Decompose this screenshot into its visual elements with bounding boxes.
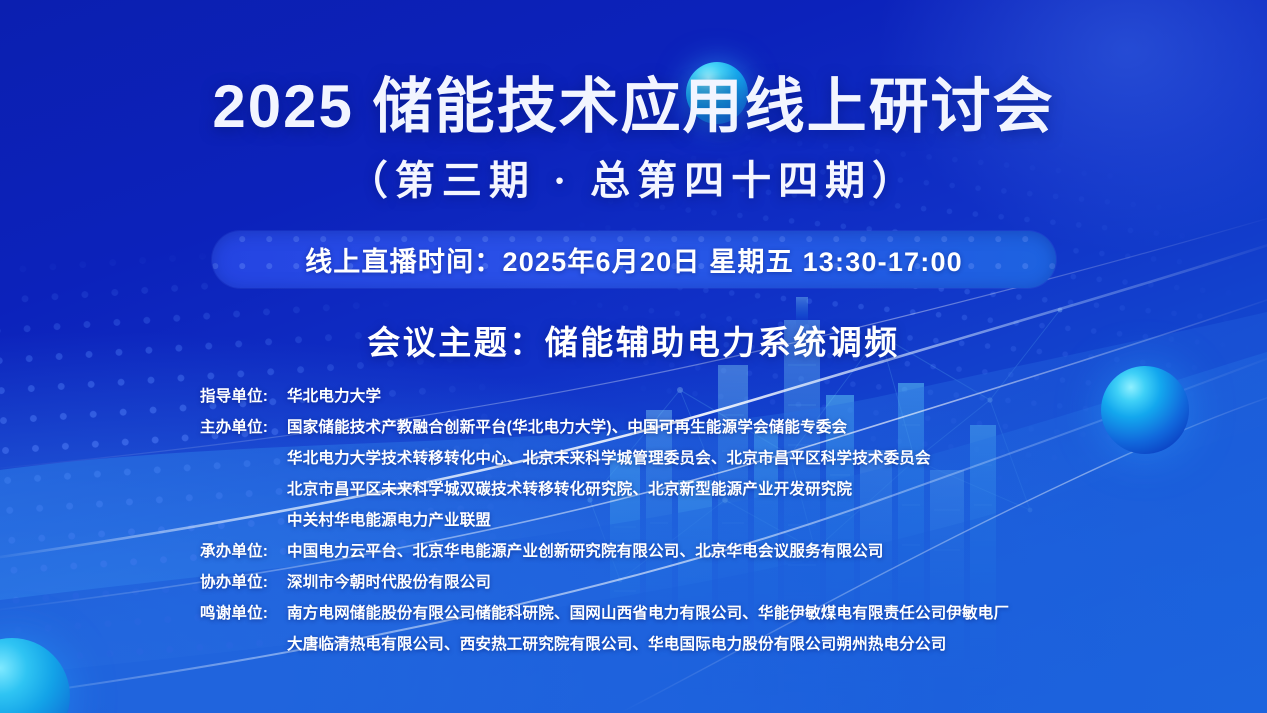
page-subtitle: （第三期 · 总第四十四期） [0, 148, 1267, 206]
org-row: 鸣谢单位: 南方电网储能股份有限公司储能科研院、国网山西省电力有限公司、华能伊敏… [200, 596, 1140, 627]
org-value: 中国电力云平台、北京华电能源产业创新研究院有限公司、北京华电会议服务有限公司 [287, 539, 884, 561]
org-value: 华北电力大学 [287, 384, 381, 406]
meeting-theme: 会议主题：储能辅助电力系统调频 [0, 316, 1267, 364]
page-title: 2025 储能技术应用线上研讨会 [0, 58, 1267, 145]
org-value: 南方电网储能股份有限公司储能科研院、国网山西省电力有限公司、华能伊敏煤电有限责任… [287, 601, 1009, 623]
org-label: 协办单位: [200, 570, 287, 592]
organizations-list: 指导单位: 华北电力大学 主办单位: 国家储能技术产教融合创新平台(华北电力大学… [200, 379, 1140, 658]
org-row: 中关村华电能源电力产业联盟 [200, 503, 1140, 534]
org-value: 华北电力大学技术转移转化中心、北京未来科学城管理委员会、北京市昌平区科学技术委员… [287, 446, 931, 468]
org-label: 主办单位: [200, 415, 287, 437]
org-value: 大唐临清热电有限公司、西安热工研究院有限公司、华电国际电力股份有限公司朔州热电分… [287, 632, 946, 654]
org-row: 承办单位: 中国电力云平台、北京华电能源产业创新研究院有限公司、北京华电会议服务… [200, 534, 1140, 565]
org-value: 中关村华电能源电力产业联盟 [287, 508, 491, 530]
org-value: 国家储能技术产教融合创新平台(华北电力大学)、中国可再生能源学会储能专委会 [287, 415, 847, 437]
org-value: 北京市昌平区未来科学城双碳技术转移转化研究院、北京新型能源产业开发研究院 [287, 477, 852, 499]
org-label: 鸣谢单位: [200, 601, 287, 623]
poster-canvas: 2025 储能技术应用线上研讨会 （第三期 · 总第四十四期） 线上直播时间：2… [0, 0, 1267, 713]
org-row: 华北电力大学技术转移转化中心、北京未来科学城管理委员会、北京市昌平区科学技术委员… [200, 441, 1140, 472]
org-row: 指导单位: 华北电力大学 [200, 379, 1140, 410]
org-row: 北京市昌平区未来科学城双碳技术转移转化研究院、北京新型能源产业开发研究院 [200, 472, 1140, 503]
org-label: 承办单位: [200, 539, 287, 561]
live-time-banner: 线上直播时间：2025年6月20日 星期五 13:30-17:00 [212, 231, 1056, 288]
org-row: 主办单位: 国家储能技术产教融合创新平台(华北电力大学)、中国可再生能源学会储能… [200, 410, 1140, 441]
org-label: 指导单位: [200, 384, 287, 406]
org-row: 协办单位: 深圳市今朝时代股份有限公司 [200, 565, 1140, 596]
live-time-text: 线上直播时间：2025年6月20日 星期五 13:30-17:00 [305, 240, 963, 279]
org-value: 深圳市今朝时代股份有限公司 [287, 570, 491, 592]
org-row: 大唐临清热电有限公司、西安热工研究院有限公司、华电国际电力股份有限公司朔州热电分… [200, 627, 1140, 658]
